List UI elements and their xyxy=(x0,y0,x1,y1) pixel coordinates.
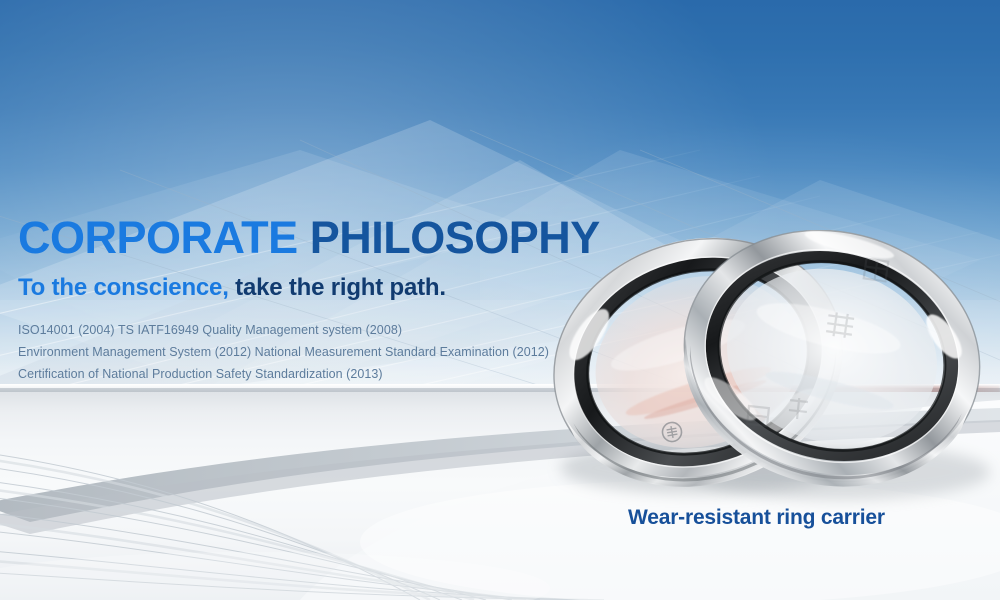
certification-list: ISO14001 (2004) TS IATF16949 Quality Man… xyxy=(18,319,638,385)
corporate-philosophy-banner: CORPORATE PHILOSOPHY To the conscience, … xyxy=(0,0,1000,600)
product-caption: Wear-resistant ring carrier xyxy=(628,506,885,530)
page-title: CORPORATE PHILOSOPHY xyxy=(18,212,638,264)
certification-line: Certification of National Production Saf… xyxy=(18,363,638,385)
page-subtitle-primary: To the conscience, xyxy=(18,274,229,301)
page-subtitle-secondary: take the right path. xyxy=(229,274,446,301)
plaza-curved-paving xyxy=(0,392,1000,600)
page-title-primary: CORPORATE xyxy=(18,212,298,263)
certification-line: ISO14001 (2004) TS IATF16949 Quality Man… xyxy=(18,319,638,341)
page-subtitle: To the conscience, take the right path. xyxy=(18,273,638,303)
page-title-secondary: PHILOSOPHY xyxy=(298,212,600,263)
certification-line: Environment Management System (2012) Nat… xyxy=(18,341,638,363)
headline-text-block: CORPORATE PHILOSOPHY To the conscience, … xyxy=(18,212,638,385)
